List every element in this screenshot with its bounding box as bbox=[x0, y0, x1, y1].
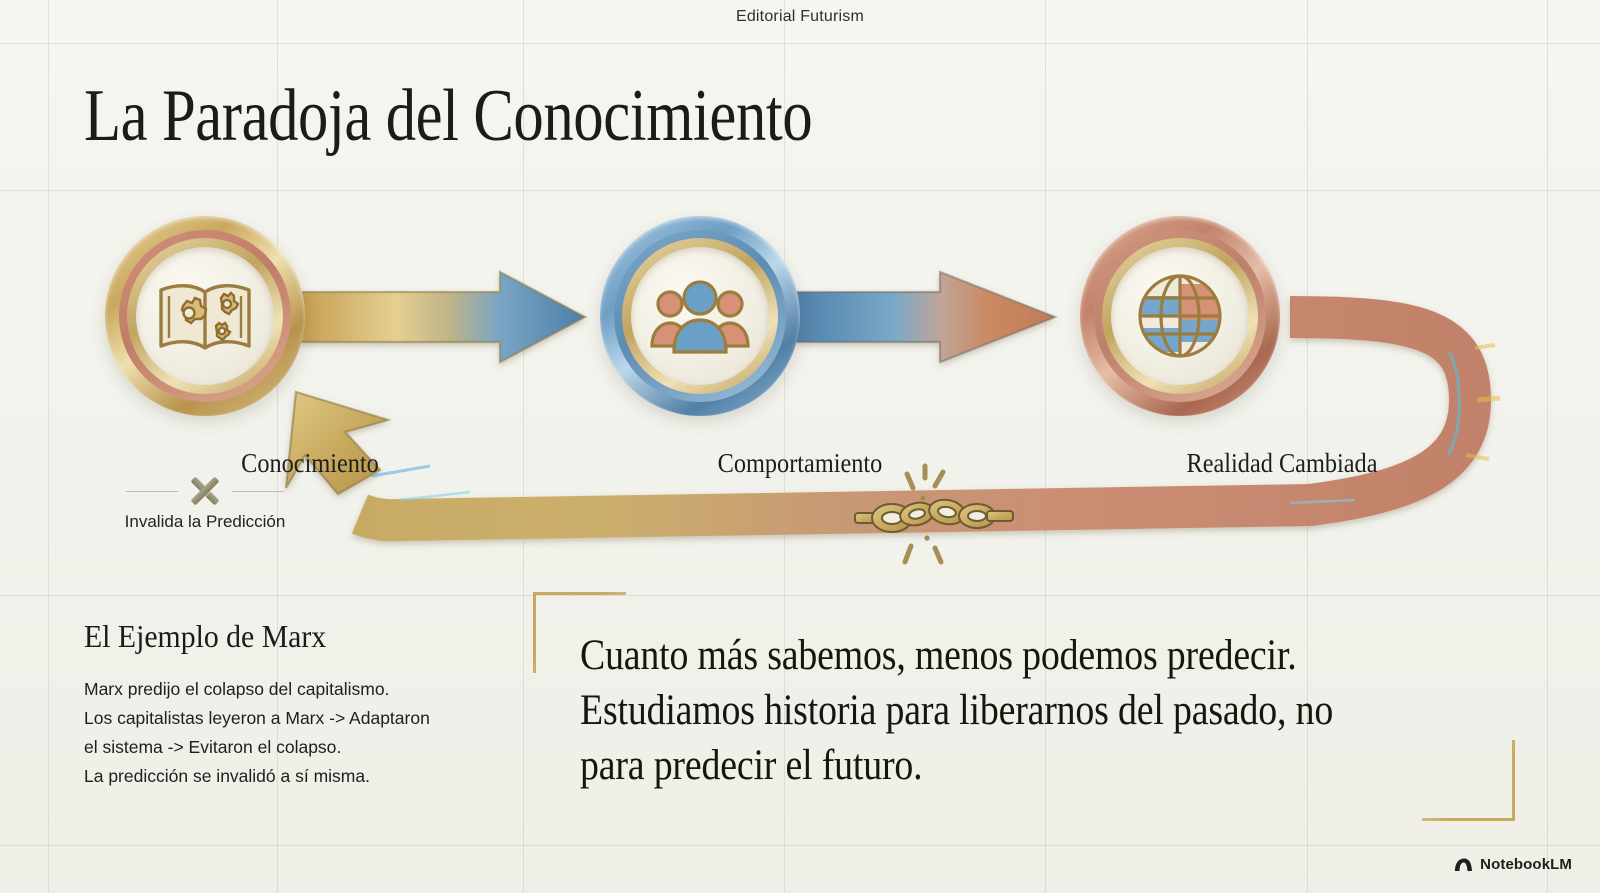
divider-line-right bbox=[232, 491, 284, 492]
node-realidad-cambiada[interactable]: Realidad Cambiada bbox=[1080, 216, 1280, 416]
watermark: NotebookLM bbox=[1454, 856, 1572, 873]
invalidation-caption: Invalida la Predicción bbox=[55, 512, 355, 532]
invalidation-marker bbox=[95, 468, 315, 514]
quote-bracket-bottom-right bbox=[1422, 740, 1515, 821]
node-conocimiento[interactable]: Conocimiento bbox=[105, 216, 305, 416]
page-brand: Editorial Futurism bbox=[0, 8, 1600, 26]
marx-line-4: La predicción se invalidó a sí misma. bbox=[84, 762, 524, 791]
marx-line-3: el sistema -> Evitaron el colapso. bbox=[84, 733, 524, 762]
node-label: Realidad Cambiada bbox=[1093, 448, 1471, 479]
x-mark-icon bbox=[188, 474, 222, 508]
marx-heading: El Ejemplo de Marx bbox=[84, 618, 493, 655]
marx-example-block: El Ejemplo de Marx Marx predijo el colap… bbox=[84, 618, 524, 791]
medallion-face bbox=[136, 247, 274, 385]
pull-quote: Cuanto más sabemos, menos podemos predec… bbox=[580, 628, 1372, 793]
book-gears-icon bbox=[153, 270, 257, 362]
marx-line-2: Los capitalistas leyeron a Marx -> Adapt… bbox=[84, 704, 524, 733]
flow-diagram: Conocimiento Comportamiento bbox=[0, 196, 1600, 576]
infographic-canvas: Editorial Futurism La Paradoja del Conoc… bbox=[0, 0, 1600, 893]
node-comportamiento[interactable]: Comportamiento bbox=[600, 216, 800, 416]
medallion-face bbox=[1111, 247, 1249, 385]
node-label: Comportamiento bbox=[611, 448, 989, 479]
people-group-icon bbox=[648, 274, 752, 358]
marx-line-1: Marx predijo el colapso del capitalismo. bbox=[84, 675, 524, 704]
divider-line-left bbox=[126, 491, 178, 492]
page-title: La Paradoja del Conocimiento bbox=[84, 76, 812, 156]
globe-icon bbox=[1132, 268, 1228, 364]
watermark-label: NotebookLM bbox=[1480, 856, 1572, 873]
notebooklm-logo-icon bbox=[1454, 857, 1473, 873]
medallion-face bbox=[631, 247, 769, 385]
